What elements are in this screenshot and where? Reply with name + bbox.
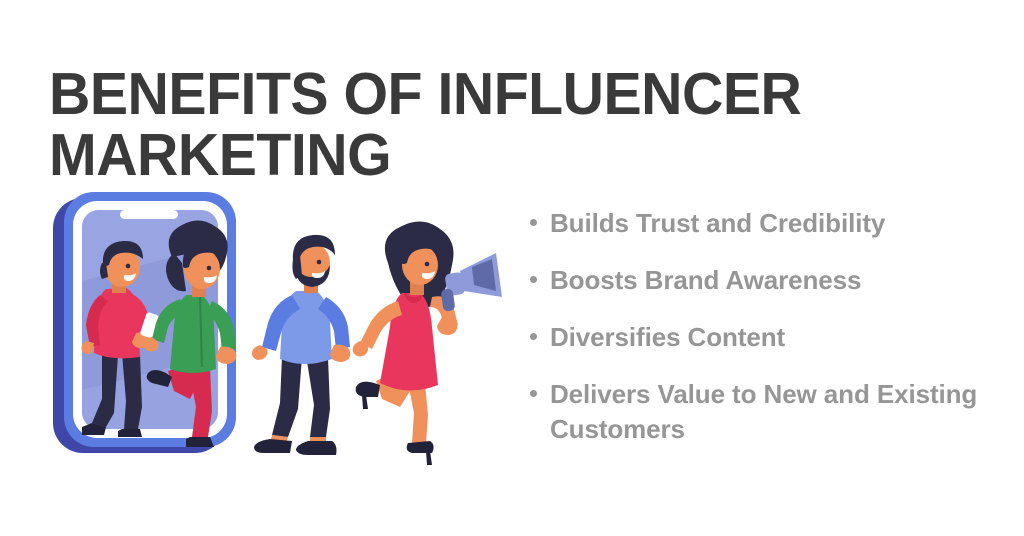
list-item-label: Diversifies Content [550,322,785,352]
bullet-dot-icon [530,333,537,340]
list-item: Builds Trust and Credibility [528,206,980,241]
f1-eye [126,264,131,269]
f4-front-heel-spike [426,451,432,465]
figure-woman-with-megaphone-red-dress [353,221,502,465]
illustration-people-walking-out-of-smartphone [40,185,510,485]
f3-front-shoe [296,441,337,455]
list-item-label: Builds Trust and Credibility [550,208,885,238]
bullet-dot-icon [530,276,537,283]
phone-speaker-notch [120,210,178,219]
list-item-label: Boosts Brand Awareness [550,265,861,295]
slide-canvas: BENEFITS OF INFLUENCER MARKETING [0,0,1024,536]
page-title: BENEFITS OF INFLUENCER MARKETING [49,64,922,187]
f2-eye [207,266,212,271]
f3-eye [317,260,322,265]
f3-back-leg [272,357,302,437]
list-item: Diversifies Content [528,320,980,355]
f1-front-shoe [118,429,142,437]
f4-front-hand [437,317,457,335]
list-item: Boosts Brand Awareness [528,263,980,298]
figure-bearded-man-blue-sweater [252,235,350,455]
f3-back-shoe [254,439,292,453]
f4-rear-heel [356,382,380,397]
list-item-label: Delivers Value to New and Existing Custo… [550,379,977,444]
benefits-list: Builds Trust and Credibility Boosts Bran… [528,206,980,447]
f4-eye [425,262,430,267]
f4-rear-heel-spike [362,395,368,409]
f3-front-leg [306,355,330,437]
list-item: Delivers Value to New and Existing Custo… [528,377,980,447]
f2-front-shoe [186,437,214,447]
bullet-dot-icon [530,390,537,397]
bullet-dot-icon [530,219,537,226]
